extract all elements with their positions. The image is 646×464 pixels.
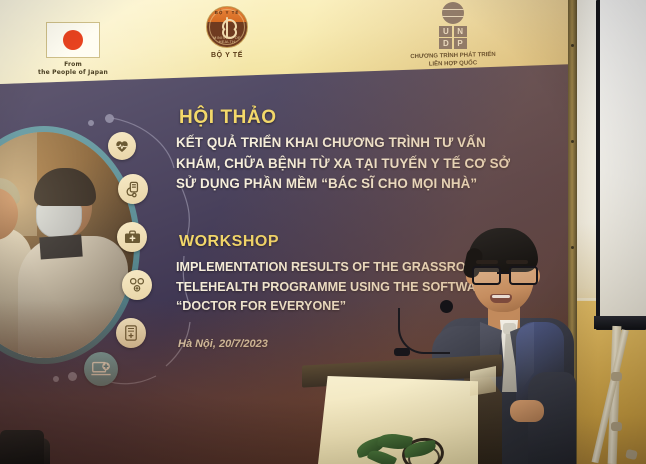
potted-plant <box>352 430 444 464</box>
speaker-hand <box>510 400 544 422</box>
gooseneck-microphone <box>398 300 464 364</box>
speaker-mouth <box>490 294 512 303</box>
projection-screen-tripod <box>602 326 642 464</box>
projection-screen <box>600 0 646 318</box>
chair-back <box>0 430 44 464</box>
speaker-glasses <box>472 266 534 281</box>
conference-photo: From the People of Japan BỘ Y TẾ MINISTR… <box>0 0 646 464</box>
